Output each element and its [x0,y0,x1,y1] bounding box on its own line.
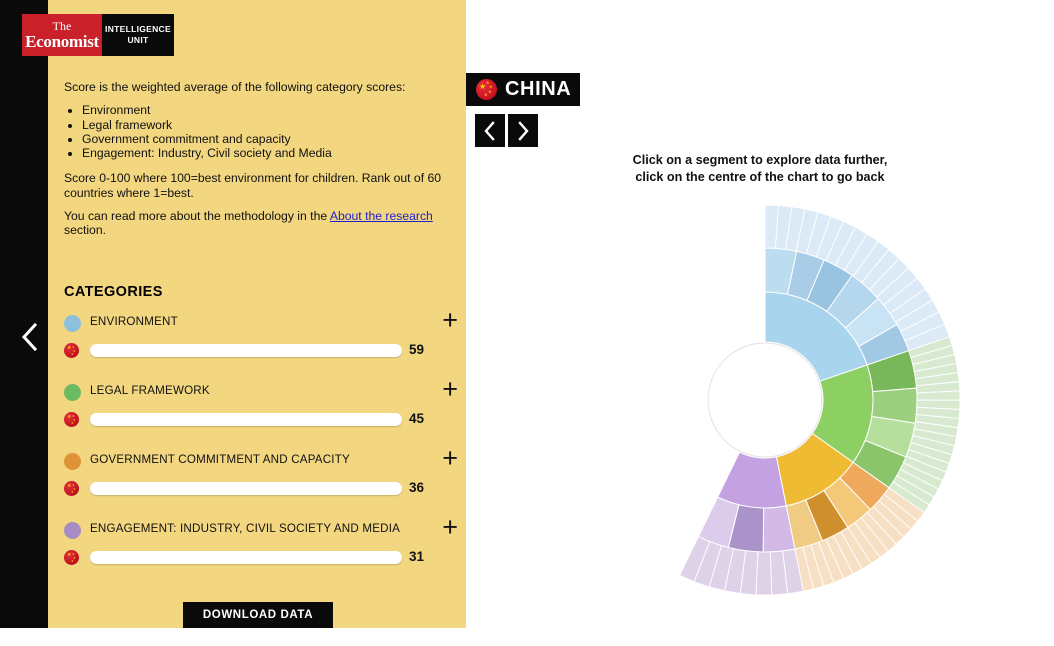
methodology-paragraph: You can read more about the methodology … [64,209,444,238]
country-badge: ★ ★ ★ ★ ★ CHINA [466,73,580,106]
intelligence-unit-wordmark: INTELLIGENCE UNIT [102,14,174,56]
category-score: 59 [409,342,424,357]
plus-icon[interactable]: + [442,307,458,334]
info-panel: The Economist INTELLIGENCE UNIT Score is… [0,0,466,628]
sunburst-segment[interactable] [718,452,787,508]
category-header: LEGAL FRAMEWORK + [64,382,458,404]
intro-paragraph: Score is the weighted average of the fol… [64,80,444,94]
economist-intelligence-unit-logo: The Economist INTELLIGENCE UNIT [22,14,174,56]
methodology-suffix: section. [64,223,106,237]
category-score-row: ★★★★ 59 [64,341,458,363]
list-item: Legal framework [82,118,444,132]
country-nav [475,114,538,147]
logo-intelligence: INTELLIGENCE [105,24,171,35]
category-score-row: ★★★★ 31 [64,548,458,570]
sunburst-segment[interactable] [756,552,772,595]
category-header: ENVIRONMENT + [64,313,458,335]
category-label: LEGAL FRAMEWORK [90,384,210,397]
plus-icon[interactable]: + [442,445,458,472]
logo-the: The [53,20,72,32]
category-color-dot [64,522,81,539]
chevron-left-icon [483,121,497,141]
list-item: Engagement: Industry, Civil society and … [82,146,444,160]
about-the-research-link[interactable]: About the research [330,209,433,223]
chevron-right-icon [516,121,530,141]
sunburst-chart[interactable] [560,195,980,605]
score-track [90,482,402,495]
category-header: GOVERNMENT COMMITMENT AND CAPACITY + [64,451,458,473]
china-flag-icon: ★ ★ ★ ★ ★ [476,79,497,100]
category-header: ENGAGEMENT: INDUSTRY, CIVIL SOCIETY AND … [64,520,458,542]
list-item: Environment [82,103,444,117]
china-flag-icon: ★★★★ [64,412,79,427]
category-row-legal-framework: LEGAL FRAMEWORK + ★★★★ 45 [64,382,458,432]
logo-unit: UNIT [127,35,148,46]
plus-icon[interactable]: + [442,376,458,403]
category-color-dot [64,315,81,332]
score-track [90,344,402,357]
economist-wordmark: The Economist [22,14,102,56]
category-bullet-list: Environment Legal framework Government c… [64,103,444,160]
china-flag-icon: ★★★★ [64,550,79,565]
score-track [90,413,402,426]
prev-country-button[interactable] [475,114,505,147]
country-name: CHINA [505,78,571,101]
panel-text: Score is the weighted average of the fol… [64,80,444,246]
category-score: 31 [409,549,424,564]
next-country-button[interactable] [508,114,538,147]
logo-economist: Economist [25,33,99,50]
sunburst-center-button[interactable] [708,343,822,457]
category-score-row: ★★★★ 36 [64,479,458,501]
category-row-engagement: ENGAGEMENT: INDUSTRY, CIVIL SOCIETY AND … [64,520,458,570]
china-flag-icon: ★★★★ [64,481,79,496]
instruction-line-2: click on the centre of the chart to go b… [600,169,920,186]
category-score: 45 [409,411,424,426]
category-row-environment: ENVIRONMENT + ★★★★ 59 [64,313,458,363]
category-score-row: ★★★★ 45 [64,410,458,432]
categories-heading: CATEGORIES [64,284,163,300]
sunburst-segment[interactable] [917,391,960,400]
category-row-government-commitment: GOVERNMENT COMMITMENT AND CAPACITY + ★★★… [64,451,458,501]
instruction-line-1: Click on a segment to explore data furth… [600,152,920,169]
scale-note: Score 0-100 where 100=best environment f… [64,171,444,200]
list-item: Government commitment and capacity [82,132,444,146]
score-track [90,551,402,564]
category-label: GOVERNMENT COMMITMENT AND CAPACITY [90,453,350,466]
chevron-left-icon[interactable] [18,320,42,354]
download-data-button[interactable]: DOWNLOAD DATA [183,602,333,628]
category-score: 36 [409,480,424,495]
plus-icon[interactable]: + [442,514,458,541]
sunburst-svg[interactable] [560,195,980,605]
methodology-prefix: You can read more about the methodology … [64,209,330,223]
china-flag-icon: ★★★★ [64,343,79,358]
panel-rail [0,0,48,628]
category-label: ENGAGEMENT: INDUSTRY, CIVIL SOCIETY AND … [90,522,400,535]
category-color-dot [64,384,81,401]
chart-instructions: Click on a segment to explore data furth… [600,152,920,186]
category-label: ENVIRONMENT [90,315,178,328]
category-color-dot [64,453,81,470]
